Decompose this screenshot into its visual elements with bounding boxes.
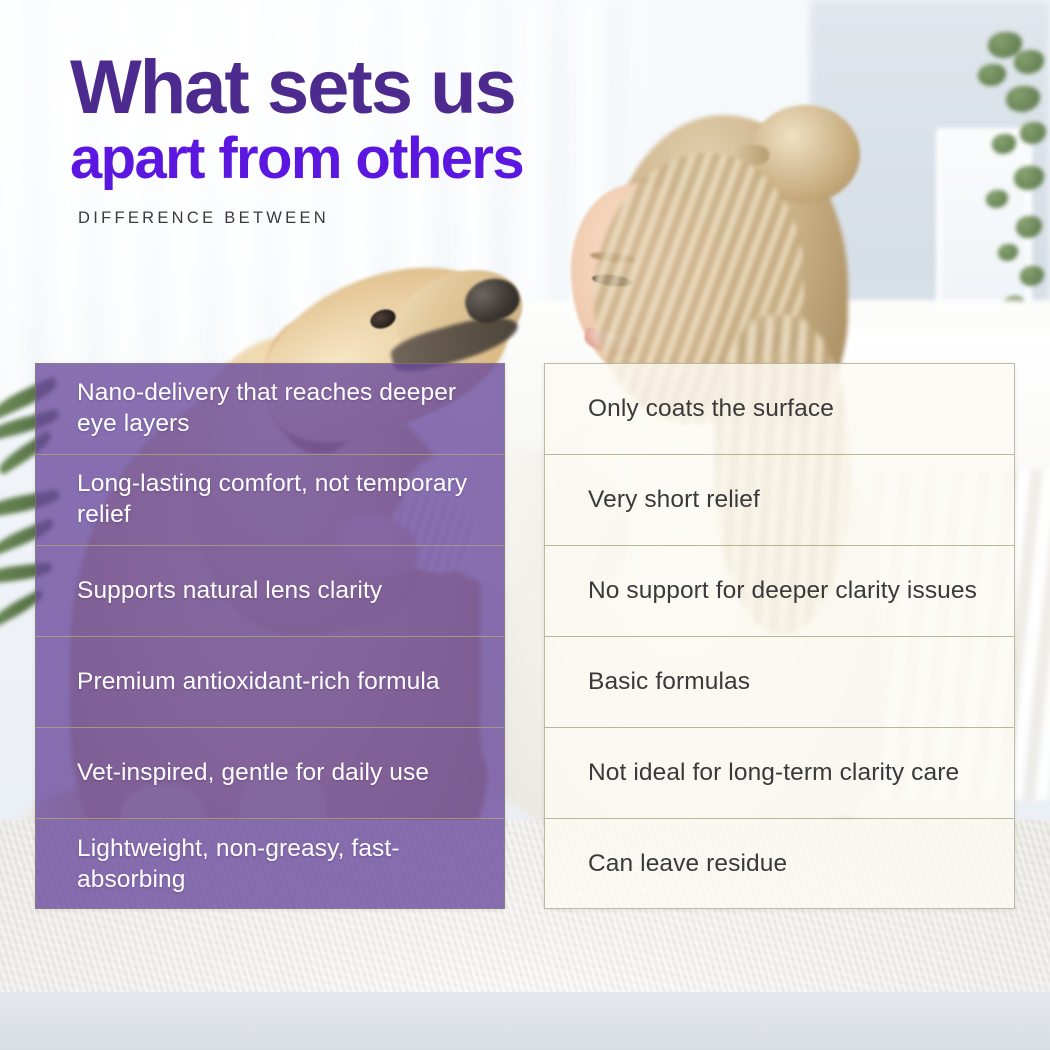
benefit-row: Vet-inspired, gentle for daily use	[36, 728, 504, 819]
benefit-text: Long-lasting comfort, not temporary reli…	[77, 469, 488, 531]
benefit-text: Lightweight, non-greasy, fast-absorbing	[77, 834, 488, 896]
benefit-row: Supports natural lens clarity	[36, 546, 504, 637]
drawback-row: Can leave residue	[545, 819, 1014, 910]
drawback-row: No support for deeper clarity issues	[545, 546, 1014, 637]
drawback-text: Very short relief	[588, 485, 760, 516]
benefit-text: Nano-delivery that reaches deeper eye la…	[77, 378, 488, 440]
drawback-row: Only coats the surface	[545, 364, 1014, 455]
drawback-text: Only coats the surface	[588, 394, 834, 425]
others-drawbacks-panel: Only coats the surface Very short relief…	[544, 363, 1015, 909]
benefit-text: Vet-inspired, gentle for daily use	[77, 758, 429, 789]
drawback-row: Very short relief	[545, 455, 1014, 546]
benefit-row: Lightweight, non-greasy, fast-absorbing	[36, 819, 504, 910]
floor	[0, 992, 1050, 1050]
heading-block: What sets us apart from others DIFFERENC…	[70, 52, 710, 228]
page-subtitle: DIFFERENCE BETWEEN	[78, 209, 710, 228]
comparison-poster: What sets us apart from others DIFFERENC…	[0, 0, 1050, 1050]
benefit-text: Supports natural lens clarity	[77, 576, 382, 607]
benefit-row: Long-lasting comfort, not temporary reli…	[36, 455, 504, 546]
drawback-text: Can leave residue	[588, 849, 787, 880]
benefit-row: Nano-delivery that reaches deeper eye la…	[36, 364, 504, 455]
drawback-text: No support for deeper clarity issues	[588, 576, 977, 607]
benefit-text: Premium antioxidant-rich formula	[77, 667, 440, 698]
drawback-text: Basic formulas	[588, 667, 750, 698]
drawback-text: Not ideal for long-term clarity care	[588, 758, 959, 789]
drawback-row: Not ideal for long-term clarity care	[545, 728, 1014, 819]
our-product-benefits-panel: Nano-delivery that reaches deeper eye la…	[35, 363, 505, 909]
page-title-line-1: What sets us	[70, 52, 710, 123]
drawback-row: Basic formulas	[545, 637, 1014, 728]
benefit-row: Premium antioxidant-rich formula	[36, 637, 504, 728]
page-title-line-2: apart from others	[70, 129, 710, 188]
